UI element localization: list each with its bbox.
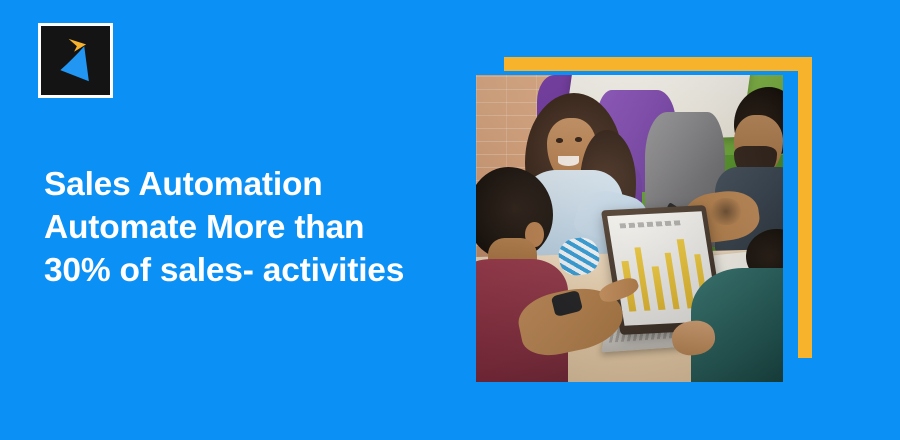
headline-line-2: Automate More than (44, 206, 474, 249)
laptop-screen-header (620, 220, 683, 229)
sales-automation-banner: Sales Automation Automate More than 30% … (0, 0, 900, 440)
woman-eye-right (575, 137, 582, 142)
laptop-chart-bar (634, 248, 650, 312)
woman-eye-left (556, 138, 563, 143)
laptop-chart-bar (677, 239, 694, 309)
woman-smile (558, 156, 579, 165)
brand-logo[interactable] (38, 23, 113, 98)
headline-line-1: Sales Automation (44, 163, 474, 206)
headline-line-3: 30% of sales- activities (44, 249, 474, 292)
laptop-chart-bar (664, 253, 679, 310)
page-title: Sales Automation Automate More than 30% … (44, 163, 474, 292)
decor-bar-right (798, 57, 812, 358)
laptop-chart-bar (652, 266, 665, 310)
team-meeting-photo (476, 75, 783, 382)
logo-arrow-sail-icon (41, 26, 110, 95)
decor-bar-top (504, 57, 812, 71)
